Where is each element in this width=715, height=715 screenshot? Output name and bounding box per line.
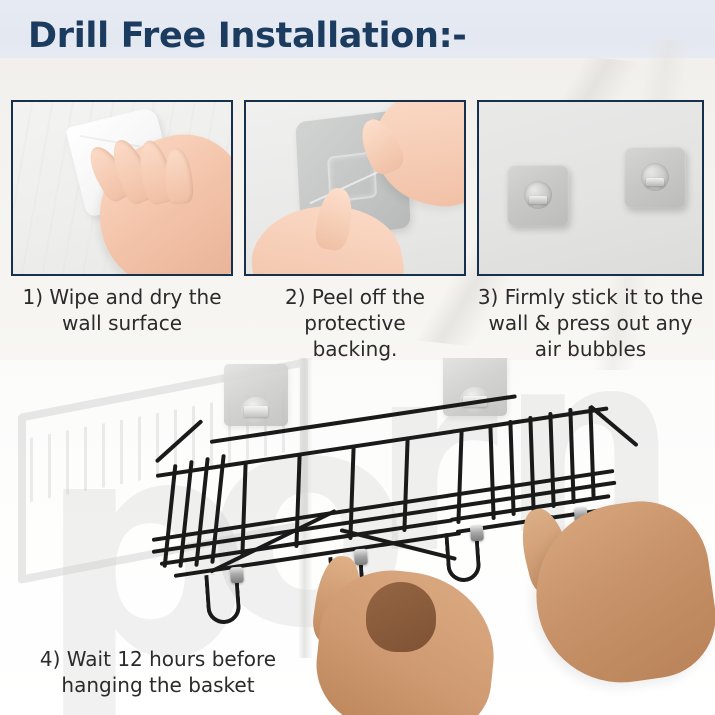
basket-wire-vertical <box>210 454 225 564</box>
step-2-caption: 2) Peel off the protective backing. <box>244 284 466 362</box>
hook-tip <box>230 567 244 584</box>
pads-on-wall-image <box>479 102 702 274</box>
basket-wire-vertical <box>402 438 409 532</box>
adhesive-pad-icon <box>507 164 569 226</box>
hook-icon <box>444 531 481 583</box>
basket-left-top-rail <box>155 419 204 463</box>
hook-tip <box>470 525 484 542</box>
peel-backing-image <box>246 102 464 274</box>
basket-wire-vertical <box>240 462 247 556</box>
basket-wire-vertical <box>348 446 355 540</box>
wall-surface-image <box>13 102 231 274</box>
step-1-caption: 1) Wipe and dry the wall surface <box>11 284 233 336</box>
adhesive-pad-clip <box>646 178 664 186</box>
basket-wire-vertical <box>488 424 495 520</box>
step-4-caption: 4) Wait 12 hours before hanging the bask… <box>18 646 298 698</box>
step-3-caption: 3) Firmly stick it to the wall & press o… <box>477 284 704 362</box>
adhesive-pad-icon <box>624 146 686 208</box>
adhesive-pad-disc <box>524 181 552 209</box>
step-1-photo-panel <box>11 100 233 276</box>
page-title: Drill Free Installation:- <box>28 16 467 56</box>
basket-wire-vertical <box>163 464 178 568</box>
adhesive-pad-disc <box>641 163 669 191</box>
basket-wire-vertical <box>178 460 193 568</box>
step-3-photo-panel <box>477 100 704 276</box>
basket-wire-vertical <box>508 420 515 516</box>
hook-tip <box>354 549 368 566</box>
hook-icon <box>204 573 241 625</box>
basket-wire-vertical <box>194 457 209 567</box>
adhesive-pad-clip <box>529 196 547 204</box>
step-2-photo-panel <box>244 100 466 276</box>
basket-right-top-rail <box>589 404 639 447</box>
knuckle-shading <box>366 582 436 652</box>
basket-wire-vertical <box>528 416 535 512</box>
basket-wire-vertical <box>294 454 301 548</box>
basket-wire-vertical <box>456 430 463 524</box>
